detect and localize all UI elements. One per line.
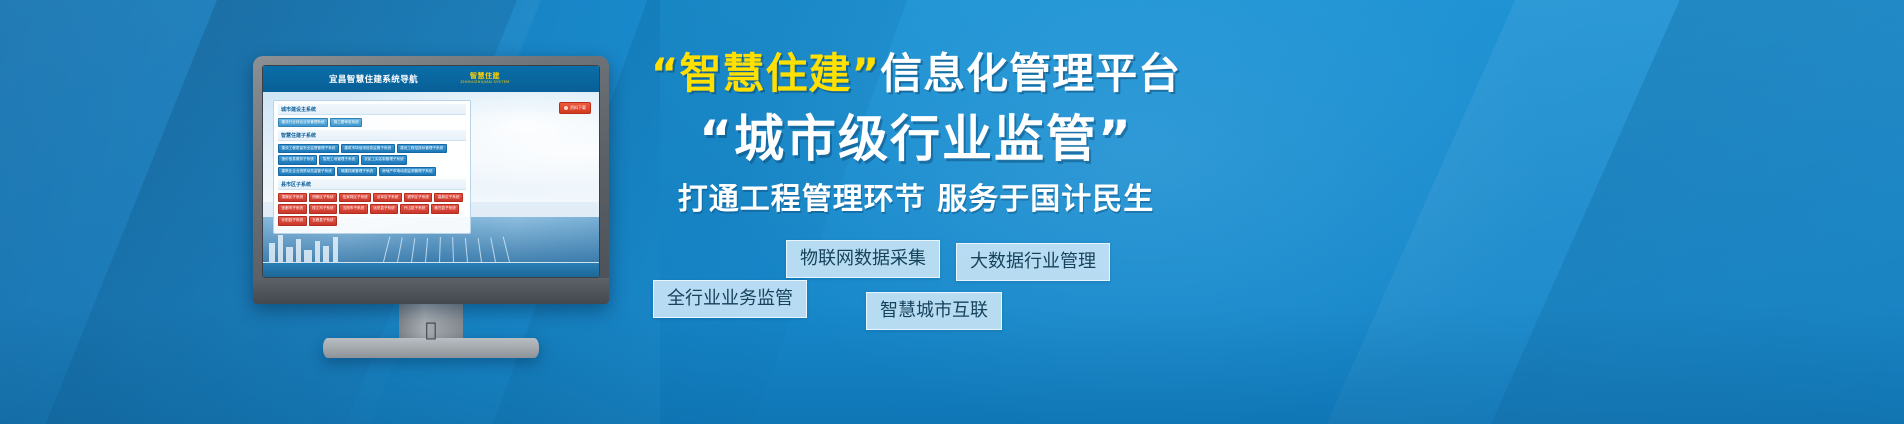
nav-chip[interactable]: 宜都市子系统 [278,204,307,214]
headline-quote-close: ” [852,49,881,98]
nav-chip[interactable]: 西陵区子系统 [309,193,338,203]
headline-rest: 信息化管理平台 [880,49,1181,98]
screen-content: 宜昌智慧住建系统导航 智慧住建 ZHIHUIZHUJIAN SYSTEM 资料下… [263,66,599,277]
apple-logo-icon:  [423,320,440,340]
river-water [263,263,599,277]
nav-chip[interactable]: 建设工程招投标管理子系统 [397,144,447,154]
nav-chip[interactable]: 当阳市子系统 [339,204,368,214]
screen-nav-panel: 城市建设主系统 建设行业综合业务管理系统 施工图审查系统 智慧住建子系统 建设工… [273,100,471,234]
section-title-districts: 县市区子系统 [278,179,466,190]
monitor-mockup:  [253,56,609,304]
nav-chip[interactable]: 远安县子系统 [370,204,399,214]
nav-chip[interactable]: 伍家岗区子系统 [339,193,371,203]
section-chips-city: 建设行业综合业务管理系统 施工图审查系统 [278,118,466,128]
headline-subtitle: 打通工程管理环节 服务于国计民生 [636,180,1196,220]
nav-chip[interactable]: 高新区子系统 [434,193,463,203]
nav-chip[interactable]: 施工图审查系统 [330,118,362,128]
section-chips-districts: 夷陵区子系统 西陵区子系统 伍家岗区子系统 点军区子系统 猇亭区子系统 高新区子… [278,193,466,226]
screen-logo: 智慧住建 ZHIHUIZHUJIAN SYSTEM [447,70,523,88]
nav-chip[interactable]: 建筑业企业资质动态监管子系统 [278,167,335,177]
nav-chip[interactable]: 枝江市子系统 [309,204,338,214]
nav-chip[interactable]: 五峰县子系统 [309,216,338,226]
monitor-bezel: 宜昌智慧住建系统导航 智慧住建 ZHIHUIZHUJIAN SYSTEM 资料下… [253,56,609,304]
nav-chip[interactable]: 建设行业综合业务管理系统 [278,118,328,128]
banner-copy: “智慧住建”信息化管理平台 “城市级行业监管” 打通工程管理环节 服务于国计民生… [636,40,1904,424]
feature-tag-supervision[interactable]: 全行业业务监管 [653,280,807,318]
nav-chip[interactable]: 建筑市场信用信息监管子系统 [341,144,395,154]
monitor-screen: 宜昌智慧住建系统导航 智慧住建 ZHIHUIZHUJIAN SYSTEM 资料下… [262,65,600,278]
nav-chip[interactable]: 城建档案管理子系统 [337,167,376,177]
feature-tag-smartcity[interactable]: 智慧城市互联 [866,292,1002,330]
section-chips-smart: 建设工程质量安全监督管理子系统 建筑市场信用信息监管子系统 建设工程招投标管理子… [278,144,466,177]
nav-chip[interactable]: 兴山县子系统 [400,204,429,214]
feature-tag-iot[interactable]: 物联网数据采集 [786,240,940,278]
monitor-stand-base [323,338,539,358]
nav-chip[interactable]: 猇亭区子系统 [404,193,433,203]
monitor-chin [253,278,609,304]
section-title-smart: 智慧住建子系统 [278,130,466,141]
nav-chip[interactable]: 造价信息服务子系统 [278,155,317,165]
screen-header-title: 宜昌智慧住建系统导航 [329,73,418,85]
screen-logo-cn: 智慧住建 [470,73,500,80]
screen-header: 宜昌智慧住建系统导航 智慧住建 ZHIHUIZHUJIAN SYSTEM [263,66,599,92]
headline-secondary: “城市级行业监管” [636,108,1196,170]
nav-chip[interactable]: 智慧工地管理子系统 [319,155,358,165]
nav-chip[interactable]: 农民工实名制管理子系统 [361,155,408,165]
nav-chip[interactable]: 秭归县子系统 [431,204,460,214]
nav-chip[interactable]: 长阳县子系统 [278,216,307,226]
screen-download-button[interactable]: 资料下载 [559,102,591,114]
nav-chip[interactable]: 建设工程质量安全监督管理子系统 [278,144,339,154]
promo-banner:  [0,0,1904,424]
feature-tag-bigdata[interactable]: 大数据行业管理 [956,243,1110,281]
nav-chip[interactable]: 夷陵区子系统 [278,193,307,203]
download-button-label: 资料下载 [570,105,586,111]
download-icon [564,106,568,110]
screen-logo-en: ZHIHUIZHUJIAN SYSTEM [460,81,509,85]
headline-quote-open: “ [651,49,680,98]
section-title-city: 城市建设主系统 [278,104,466,115]
headline-primary: “智慧住建”信息化管理平台 [636,48,1196,100]
headline-highlight: 智慧住建 [679,49,851,98]
nav-chip[interactable]: 点军区子系统 [373,193,402,203]
nav-chip[interactable]: 房地产市场动态监测管理子系统 [379,167,436,177]
